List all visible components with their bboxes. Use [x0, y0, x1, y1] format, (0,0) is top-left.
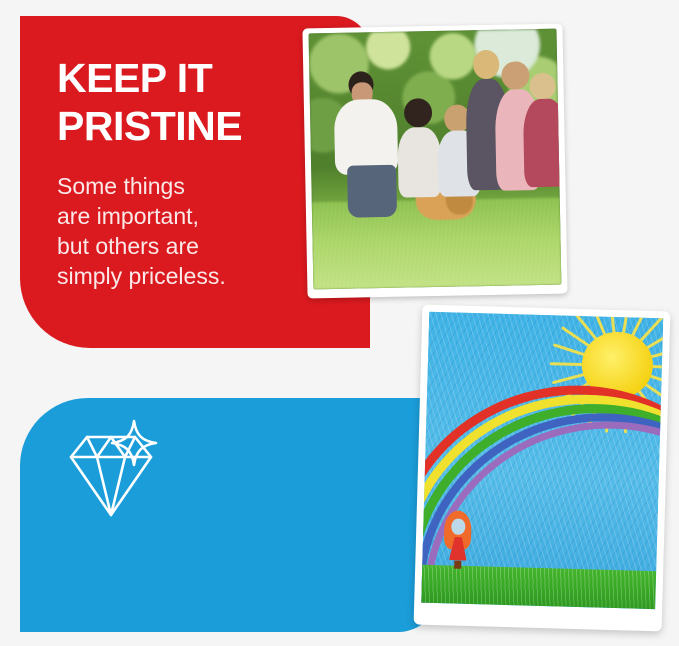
family-photo [302, 24, 567, 299]
drawing-figure-child [443, 510, 475, 566]
diamond-sparkle-icon [57, 415, 167, 525]
childrens-crayon-drawing [414, 305, 671, 632]
person-girl-red-shirt [523, 69, 562, 208]
poster-canvas: KEEP IT PRISTINE Some things are importa… [0, 0, 679, 646]
family-photo-image [309, 29, 562, 290]
red-panel-subhead: Some things are important, but others ar… [57, 171, 347, 291]
crayon-drawing-image [421, 312, 663, 609]
drawing-grass [421, 565, 656, 609]
